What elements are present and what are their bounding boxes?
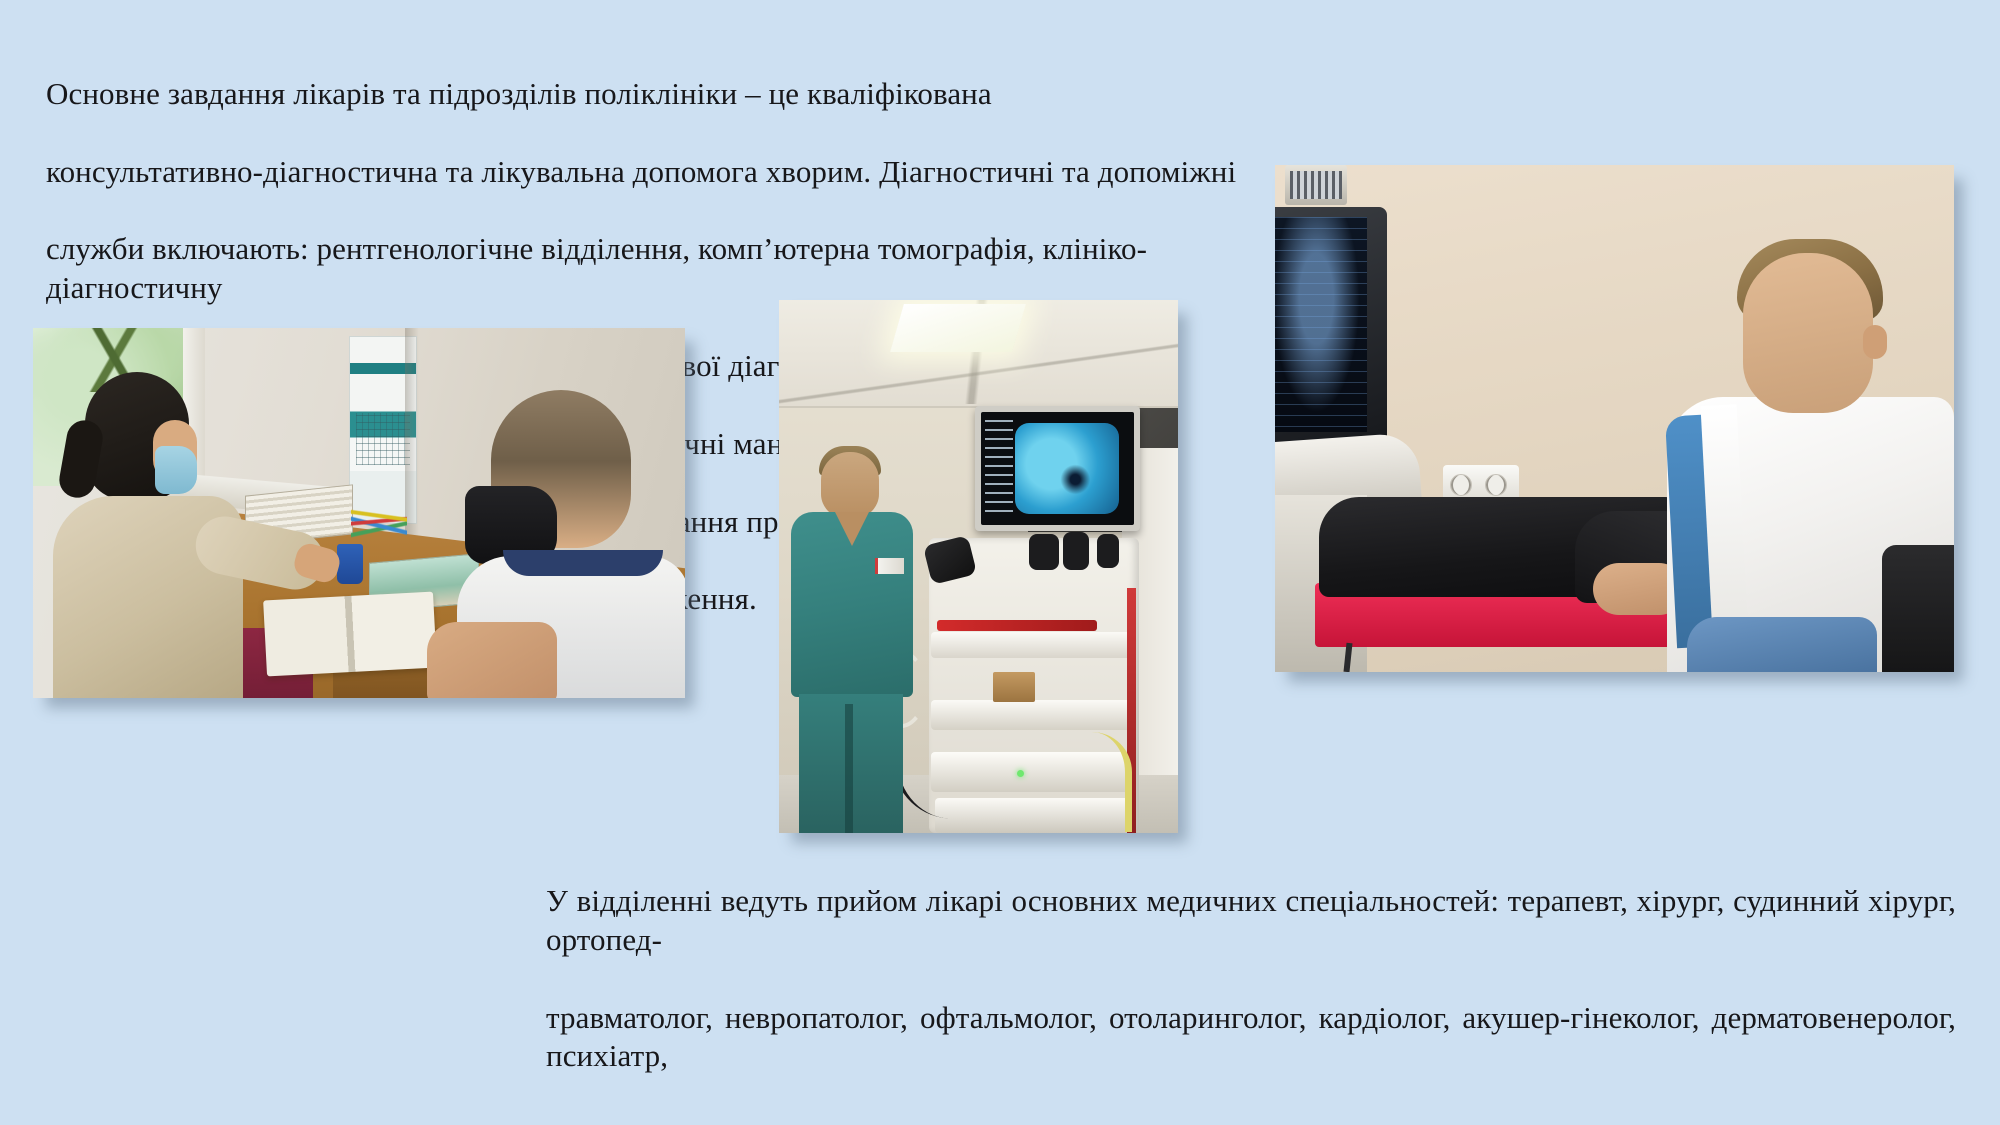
patient-shirt-collar <box>503 550 663 576</box>
doctor-face <box>821 452 879 518</box>
endoscope-head-2 <box>1029 534 1059 570</box>
ultrasound-screen-image <box>1275 217 1367 432</box>
office-chair <box>1882 545 1954 672</box>
endoscope-head-4 <box>1097 534 1119 568</box>
ultrasound-photo <box>1275 165 1954 672</box>
patient-arm <box>427 622 557 698</box>
consultation-photo <box>33 328 685 698</box>
specialists-line-1: У відділенні ведуть прийом лікарі основн… <box>546 882 1956 960</box>
yellow-tubing <box>1055 732 1132 832</box>
intro-line-2: консультативно-діагностична та лікувальн… <box>46 153 1306 192</box>
endoscopic-image <box>1015 423 1119 513</box>
ceiling-light-panel <box>890 304 1026 352</box>
ultrasound-photo-scene <box>1275 165 1954 672</box>
ultrasound-monitor <box>1275 207 1387 447</box>
specialists-line-3: нарколог. <box>546 1115 1956 1125</box>
doctor-teal-scrub-trousers <box>799 694 903 833</box>
endoscopy-photo <box>779 300 1178 833</box>
specialists-paragraph: У відділенні ведуть прийом лікарі основн… <box>546 843 1956 1125</box>
open-register-book <box>263 592 437 677</box>
cardboard-box <box>993 672 1035 702</box>
doctor-ear <box>1863 325 1887 359</box>
intro-line-3: служби включають: рентгенологічне відділ… <box>46 230 1306 308</box>
doctor-face <box>1743 253 1873 413</box>
consultation-photo-scene <box>33 328 685 698</box>
intro-line-1: Основне завдання лікарів та підрозділів … <box>46 75 1306 114</box>
doctor-blue-mask <box>155 446 197 494</box>
endoscope-head-3 <box>1063 532 1089 570</box>
doctor-jeans <box>1687 617 1877 672</box>
monitor-screen <box>981 412 1134 525</box>
power-led-indicator <box>1017 770 1024 777</box>
screen-parameter-text <box>985 420 1013 515</box>
endoscopy-monitor <box>975 406 1140 531</box>
blue-cup <box>337 544 363 584</box>
name-badge <box>875 558 904 574</box>
presentation-slide: Основне завдання лікарів та підрозділів … <box>0 0 2000 1125</box>
specialists-line-2: травматолог, невропатолог, офтальмолог, … <box>546 999 1956 1077</box>
endoscopy-photo-scene <box>779 300 1178 833</box>
ultrasound-top-unit <box>1285 165 1347 205</box>
